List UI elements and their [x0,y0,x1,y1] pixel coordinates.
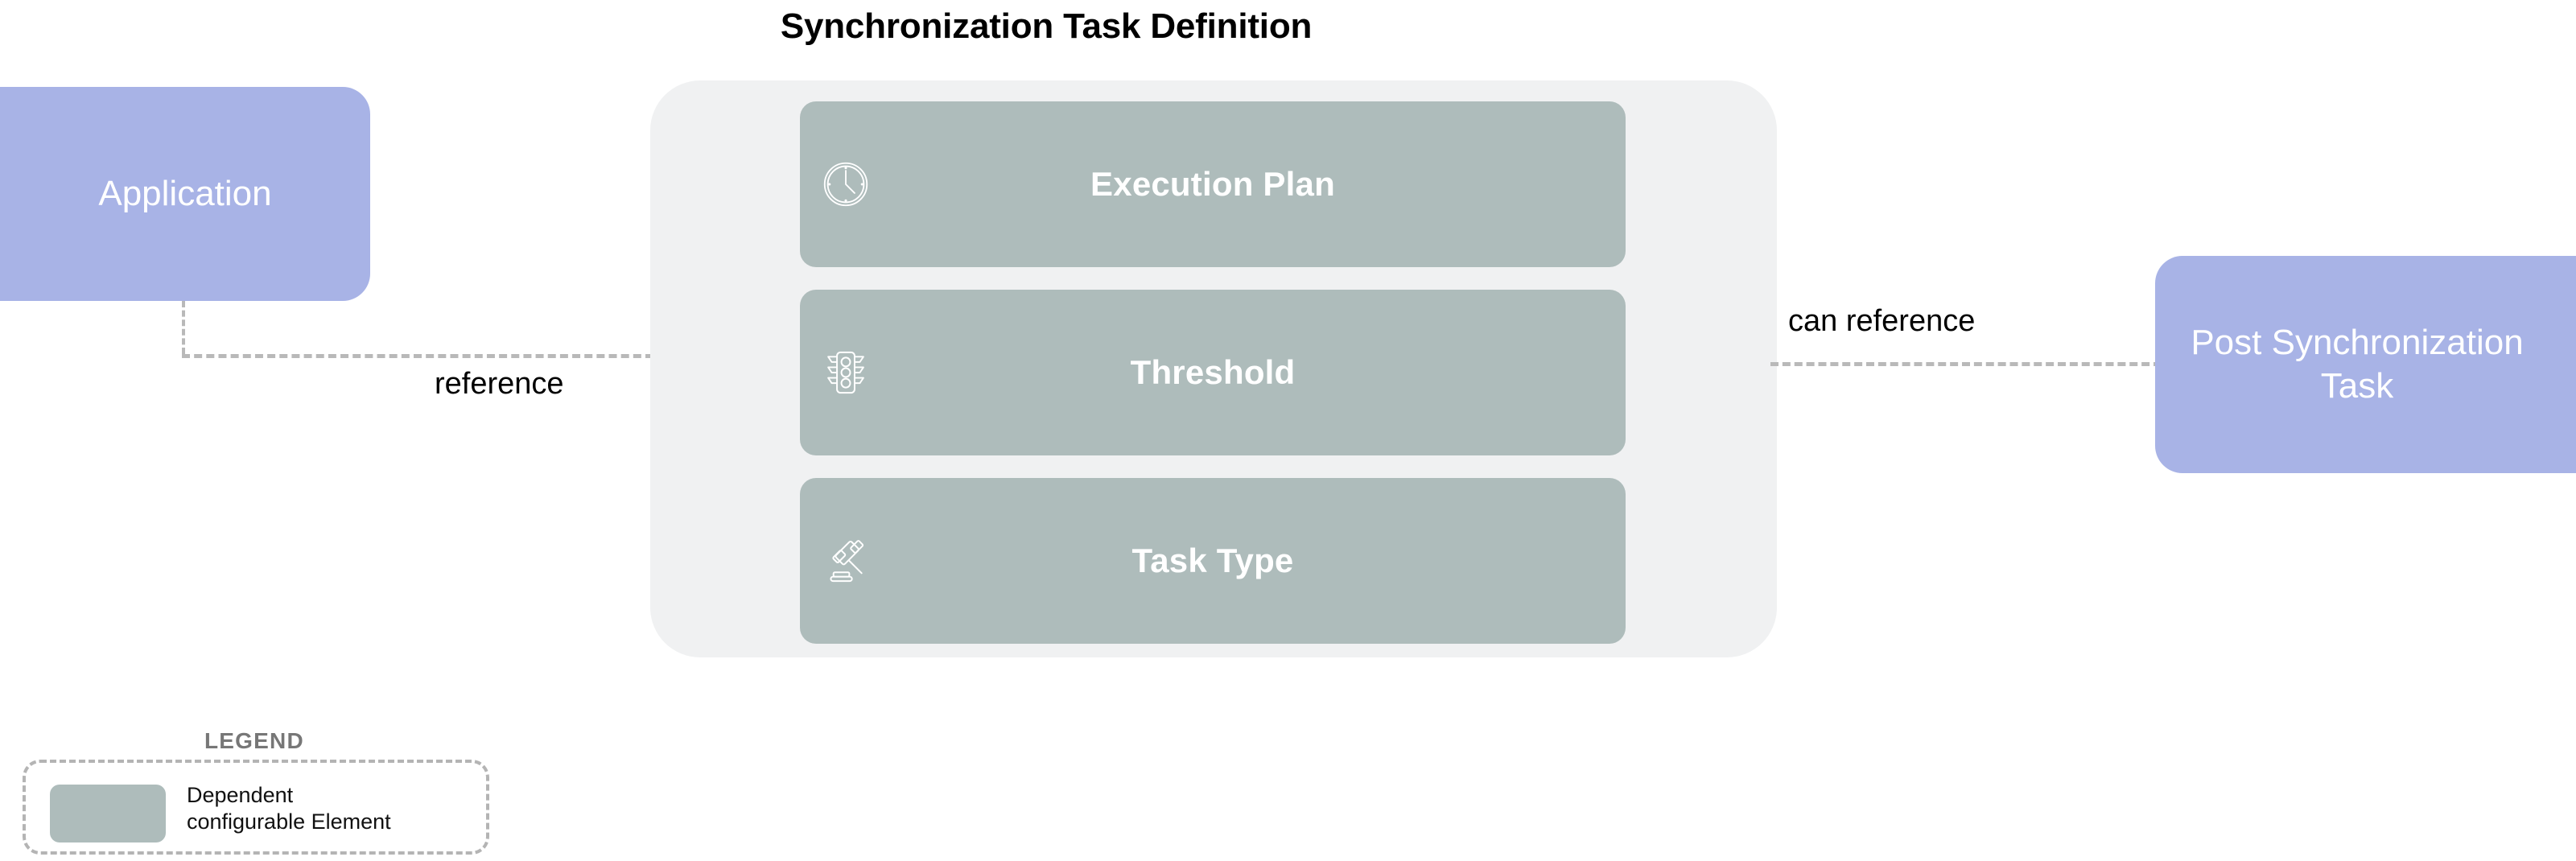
card-task-type-label: Task Type [800,542,1626,580]
page-title: Synchronization Task Definition [692,6,1400,47]
legend-item-label: Dependent configurable Element [187,782,476,835]
node-post-synchronization-task[interactable]: Post Synchronization Task [2155,256,2576,473]
card-task-type[interactable]: Task Type [800,478,1626,644]
card-execution-plan-label: Execution Plan [800,165,1626,204]
node-post-synchronization-task-label: Post Synchronization Task [2155,321,2559,407]
connector-post-sync-horizontal [1770,362,2162,366]
card-execution-plan[interactable]: Execution Plan [800,101,1626,267]
connector-label-reference: reference [435,367,564,402]
connector-application-horizontal [182,354,653,358]
node-application-label: Application [98,172,271,216]
card-threshold[interactable]: Threshold [800,290,1626,455]
connector-application-vertical [182,301,185,354]
legend-item-label-line1: Dependent [187,783,293,807]
node-application[interactable]: Application [0,87,370,301]
legend-swatch-dependent-configurable-element [50,785,166,842]
legend-title: LEGEND [193,728,315,754]
legend-item-label-line2: configurable Element [187,810,391,834]
card-threshold-label: Threshold [800,353,1626,392]
diagram-canvas: Synchronization Task Definition Applicat… [0,0,2576,861]
connector-label-can-reference: can reference [1788,304,1975,339]
